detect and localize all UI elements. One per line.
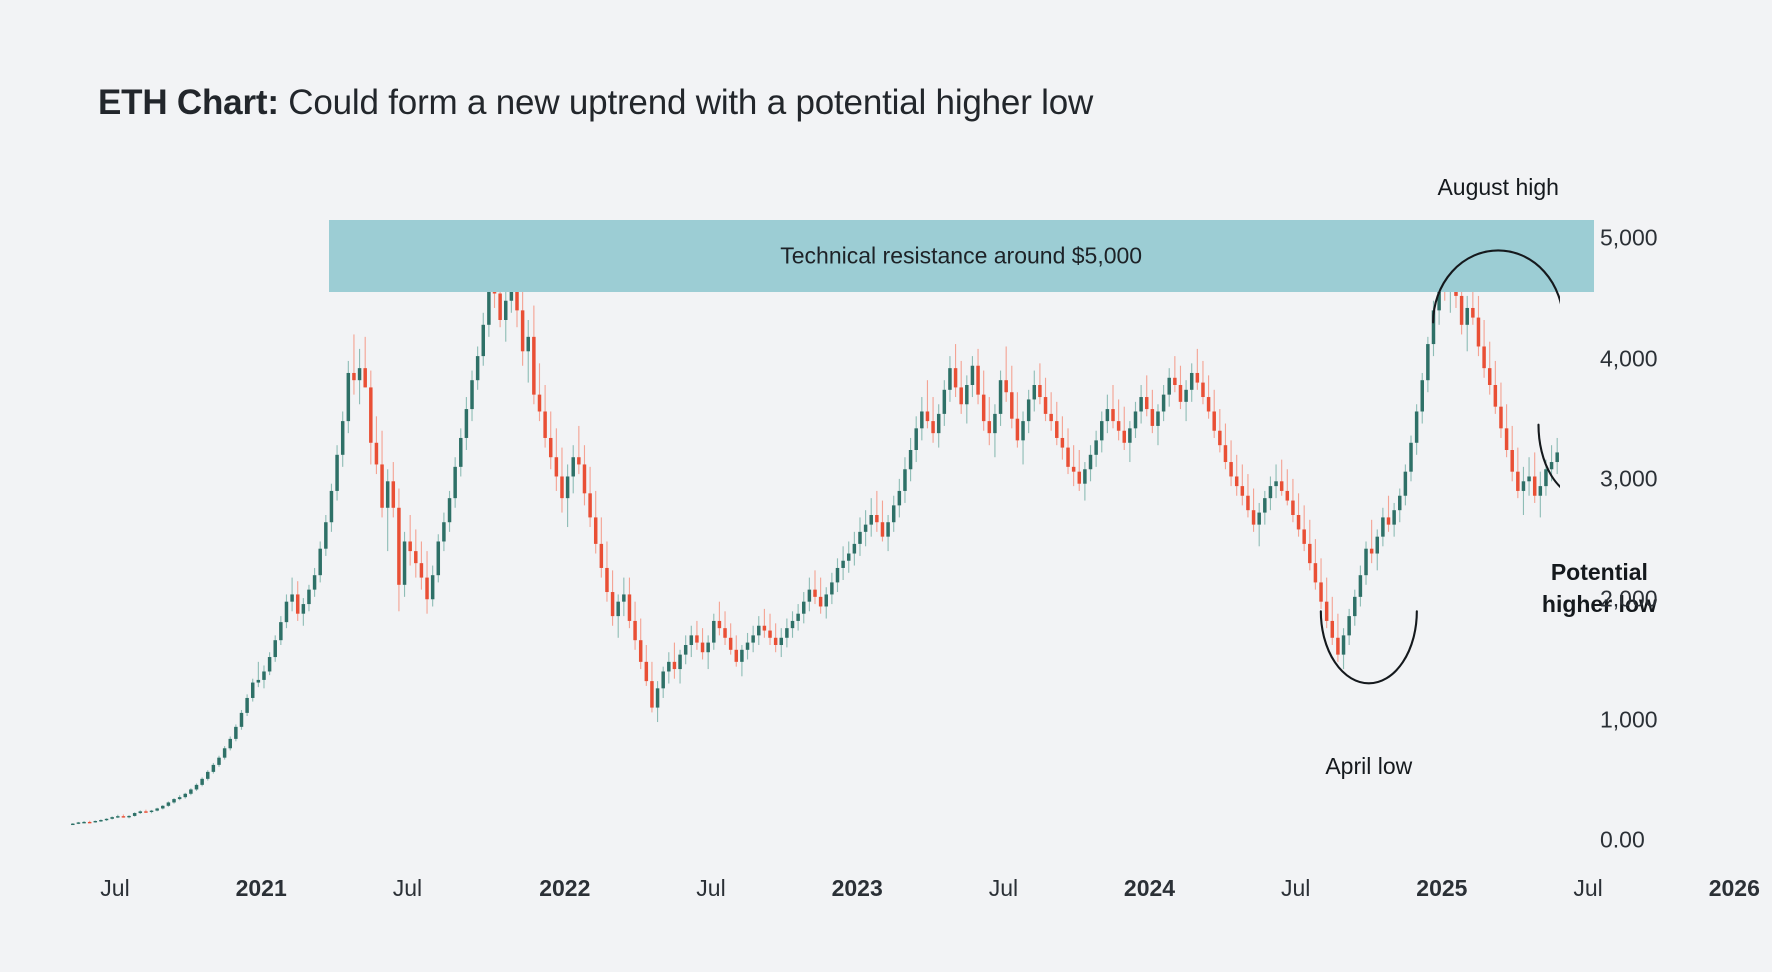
x-axis-tick: 2024 — [1124, 875, 1175, 902]
page-title: ETH Chart: Could form a new uptrend with… — [98, 83, 1093, 123]
x-axis-tick: Jul — [1281, 875, 1310, 902]
x-axis-tick: 2022 — [539, 875, 590, 902]
x-axis-tick: Jul — [696, 875, 725, 902]
x-axis-tick: Jul — [989, 875, 1018, 902]
x-axis-tick: 2021 — [236, 875, 287, 902]
x-axis-tick: 2023 — [832, 875, 883, 902]
x-axis-tick: 2025 — [1416, 875, 1467, 902]
title-strong: ETH Chart: — [98, 83, 279, 122]
annotation-label-april-low: April low — [1325, 751, 1412, 783]
y-axis-tick: 5,000 — [1600, 225, 1658, 252]
x-axis-tick: Jul — [100, 875, 129, 902]
x-axis-tick: Jul — [393, 875, 422, 902]
title-rest: Could form a new uptrend with a potentia… — [279, 83, 1093, 122]
candlestick-plot-area[interactable]: Technical resistance around $5,000 Augus… — [70, 190, 1560, 840]
y-axis: 5,0004,0003,0002,0001,0000.00 — [1600, 190, 1760, 840]
y-axis-tick: 4,000 — [1600, 345, 1658, 372]
y-axis-tick: 3,000 — [1600, 465, 1658, 492]
chart-page: ETH Chart: Could form a new uptrend with… — [0, 0, 1772, 972]
annotation-line: August high — [1437, 172, 1558, 204]
resistance-band-label: Technical resistance around $5,000 — [780, 243, 1142, 270]
x-axis-tick: Jul — [1573, 875, 1602, 902]
x-axis-tick: 2026 — [1709, 875, 1760, 902]
annotation-line: April low — [1325, 751, 1412, 783]
y-axis-tick: 0.00 — [1600, 827, 1645, 854]
y-axis-tick: 2,000 — [1600, 586, 1658, 613]
y-axis-tick: 1,000 — [1600, 706, 1658, 733]
x-axis: Jul2021Jul2022Jul2023Jul2024Jul2025Jul20… — [70, 875, 1560, 915]
annotation-label-august-high: August high — [1437, 172, 1558, 204]
